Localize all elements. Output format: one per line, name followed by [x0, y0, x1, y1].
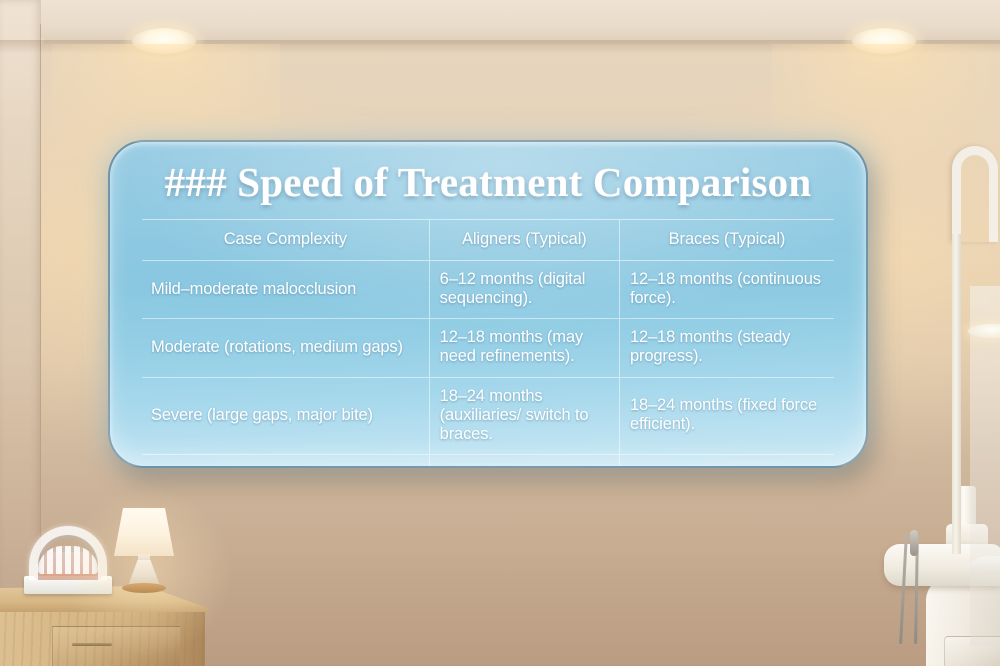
- comparison-table: Case Complexity Aligners (Typical) Brace…: [142, 219, 834, 468]
- cell-braces: 12–18 months (steady progress).: [619, 319, 834, 377]
- page-title: ### Speed of Treatment Comparison: [142, 142, 834, 203]
- pole-stem: [952, 234, 961, 554]
- nightstand-drawer: [52, 626, 180, 666]
- cell-braces: 18–24 months (fixed force efficient).: [619, 377, 834, 454]
- cell-braces: Minimal effort, continuous force regardl…: [619, 454, 834, 468]
- cell-braces: 12–18 months (continuous force).: [619, 261, 834, 319]
- nightstand: [0, 586, 211, 666]
- cell-complexity: Compliance impact: [142, 454, 429, 468]
- cell-complexity: Mild–moderate malocclusion: [142, 261, 429, 319]
- column-header-complexity: Case Complexity: [142, 220, 429, 261]
- cell-complexity: Severe (large gaps, major bite): [142, 377, 429, 454]
- cell-aligners: 12–18 months (may need refinements).: [429, 319, 619, 377]
- table-lamp: [106, 508, 182, 594]
- cell-complexity: Moderate (rotations, medium gaps): [142, 319, 429, 377]
- drawer-handle: [72, 643, 112, 646]
- cell-aligners: 18–24 months (auxiliaries/ switch to bra…: [429, 377, 619, 454]
- column-header-braces: Braces (Typical): [619, 220, 834, 261]
- table-row: Compliance impact 20–22h/day wear, non-c…: [142, 454, 834, 468]
- overhead-light-pole: [952, 146, 1000, 546]
- lamp-foot: [122, 583, 166, 593]
- panel-surface: ### Speed of Treatment Comparison Case C…: [108, 140, 868, 468]
- clear-aligner-arch: [29, 526, 107, 580]
- table-header-row: Case Complexity Aligners (Typical) Brace…: [142, 220, 834, 261]
- table-row: Severe (large gaps, major bite) 18–24 mo…: [142, 377, 834, 454]
- column-header-aligners: Aligners (Typical): [429, 220, 619, 261]
- ceiling-downlight-right-icon: [852, 28, 916, 54]
- table-row: Mild–moderate malocclusion 6–12 months (…: [142, 261, 834, 319]
- ceiling-downlight-left-icon: [132, 28, 196, 54]
- dental-arch-model: [24, 526, 112, 596]
- pole-backdrop: [970, 286, 1000, 646]
- comparison-panel: ### Speed of Treatment Comparison Case C…: [108, 140, 868, 468]
- pole-curved-arm: [952, 146, 998, 242]
- clinic-room-scene: ### Speed of Treatment Comparison Case C…: [0, 0, 1000, 666]
- cell-aligners: 6–12 months (digital sequencing).: [429, 261, 619, 319]
- table-row: Moderate (rotations, medium gaps) 12–18 …: [142, 319, 834, 377]
- lamp-shade: [114, 508, 174, 556]
- instrument-handpiece: [910, 530, 918, 556]
- cell-aligners: 20–22h/day wear, non-compliance extends …: [429, 454, 619, 468]
